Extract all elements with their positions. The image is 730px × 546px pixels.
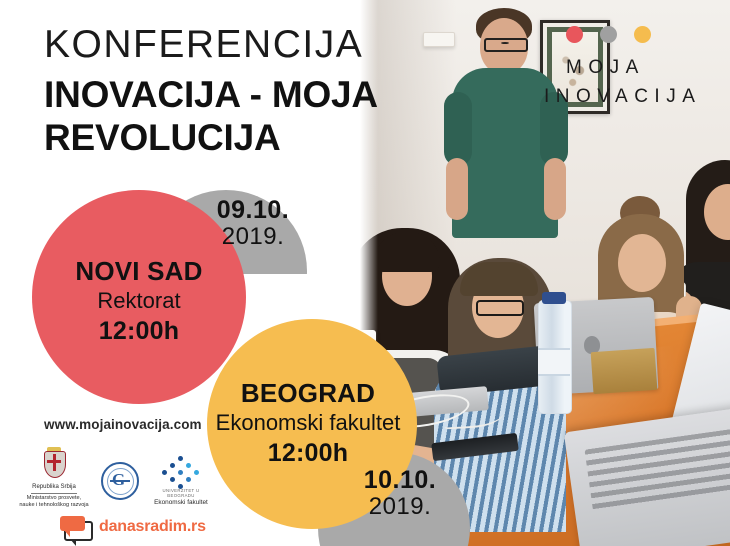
wall-mounted-box [423, 32, 455, 47]
event-details-novi-sad: NOVI SAD Rektorat 12:00h [34, 256, 244, 347]
logo-dots [566, 26, 722, 43]
person-standing-arm-right [544, 158, 566, 220]
logo-dot-gray [600, 26, 617, 43]
logo-word-moja: MOJA [566, 53, 722, 82]
date-text-beograd: 10.10. 2019. [325, 466, 475, 521]
event-details-beograd: BEOGRAD Ekonomski fakultet 12:00h [200, 378, 416, 469]
time-beograd: 12:00h [200, 437, 416, 469]
danasradim-label: danasradim.rs [99, 518, 206, 536]
ekof-dot [162, 470, 167, 475]
venue-beograd: Ekonomski fakultet [200, 409, 416, 437]
person-middle-glasses [476, 300, 524, 316]
person-middle-hair-front [460, 262, 538, 296]
person-standing-sleeve-left [444, 92, 472, 166]
city-name-novi-sad: NOVI SAD [34, 256, 244, 287]
serbia-coat-of-arms-icon [41, 448, 67, 482]
date-year-beograd: 2019. [325, 494, 475, 521]
ekof-dot [194, 470, 199, 475]
partner-university-label: UNIVERZITET U BEOGRADU [150, 488, 212, 498]
person-standing-glasses-bridge [501, 42, 509, 44]
website-url[interactable]: www.mojainovacija.com [44, 417, 202, 432]
person-standing-glasses [484, 38, 528, 52]
partner-ekonomski-fakultet: UNIVERZITET U BEOGRADU Ekonomski fakulte… [150, 456, 212, 508]
ekof-dot [186, 463, 191, 468]
date-day-novi-sad: 09.10. [168, 196, 338, 224]
person-right-face [618, 234, 666, 292]
partner-faculty-label: Ekonomski fakultet [150, 499, 212, 508]
ekof-dot [186, 477, 191, 482]
speech-bubble-icon [60, 516, 90, 538]
ftn-monogram-bar [110, 480, 130, 482]
time-novi-sad: 12:00h [34, 315, 244, 347]
date-year-novi-sad: 2019. [168, 224, 338, 251]
ekof-dot [170, 477, 175, 482]
notebook-stack [591, 348, 658, 394]
headline-line-1: KONFERENCIJA [44, 22, 378, 68]
logo-dot-yellow [634, 26, 651, 43]
city-name-beograd: BEOGRAD [200, 378, 416, 409]
logo-word-inovacija: INOVACIJA [544, 82, 722, 111]
partner-ftn: G [96, 462, 144, 500]
logo-dot-red [566, 26, 583, 43]
partner-divider-rule [31, 493, 77, 494]
partner-logos: Republika Srbija Ministarstvo prosvete, … [18, 448, 228, 508]
poster-headline: KONFERENCIJA INOVACIJA - MOJA REVOLUCIJA [44, 22, 378, 160]
ekof-dot [178, 456, 183, 461]
ekof-dots-icon [161, 456, 201, 486]
partner-ministry-line-2: nauke i tehnološkog razvoja [18, 502, 90, 510]
moja-inovacija-logo: MOJA INOVACIJA [536, 26, 722, 112]
conference-poster: KONFERENCIJA INOVACIJA - MOJA REVOLUCIJA… [0, 0, 730, 546]
headline-line-3: REVOLUCIJA [44, 117, 378, 160]
coat-of-arms-cross-horizontal [47, 460, 61, 463]
water-bottle-cap [542, 292, 566, 304]
partner-name-republika-srbija: Republika Srbija [18, 483, 90, 491]
ftn-seal-icon: G [101, 462, 139, 500]
venue-novi-sad: Rektorat [34, 287, 244, 315]
partner-ministry-line-1: Ministarstvo prosvete, [18, 495, 90, 503]
person-standing-arm-left [446, 158, 468, 220]
speech-bubble-fill [60, 516, 85, 531]
coat-of-arms-cross-vertical [53, 454, 56, 471]
date-text-novi-sad: 09.10. 2019. [168, 196, 338, 251]
ekof-dot [178, 470, 183, 475]
partner-republika-srbija: Republika Srbija Ministarstvo prosvete, … [18, 448, 90, 510]
ekof-dot [170, 463, 175, 468]
water-bottle-label [538, 348, 570, 376]
headline-line-2: INOVACIJA - MOJA [44, 74, 378, 117]
danasradim-logo[interactable]: danasradim.rs [60, 516, 206, 538]
date-day-beograd: 10.10. [325, 466, 475, 494]
